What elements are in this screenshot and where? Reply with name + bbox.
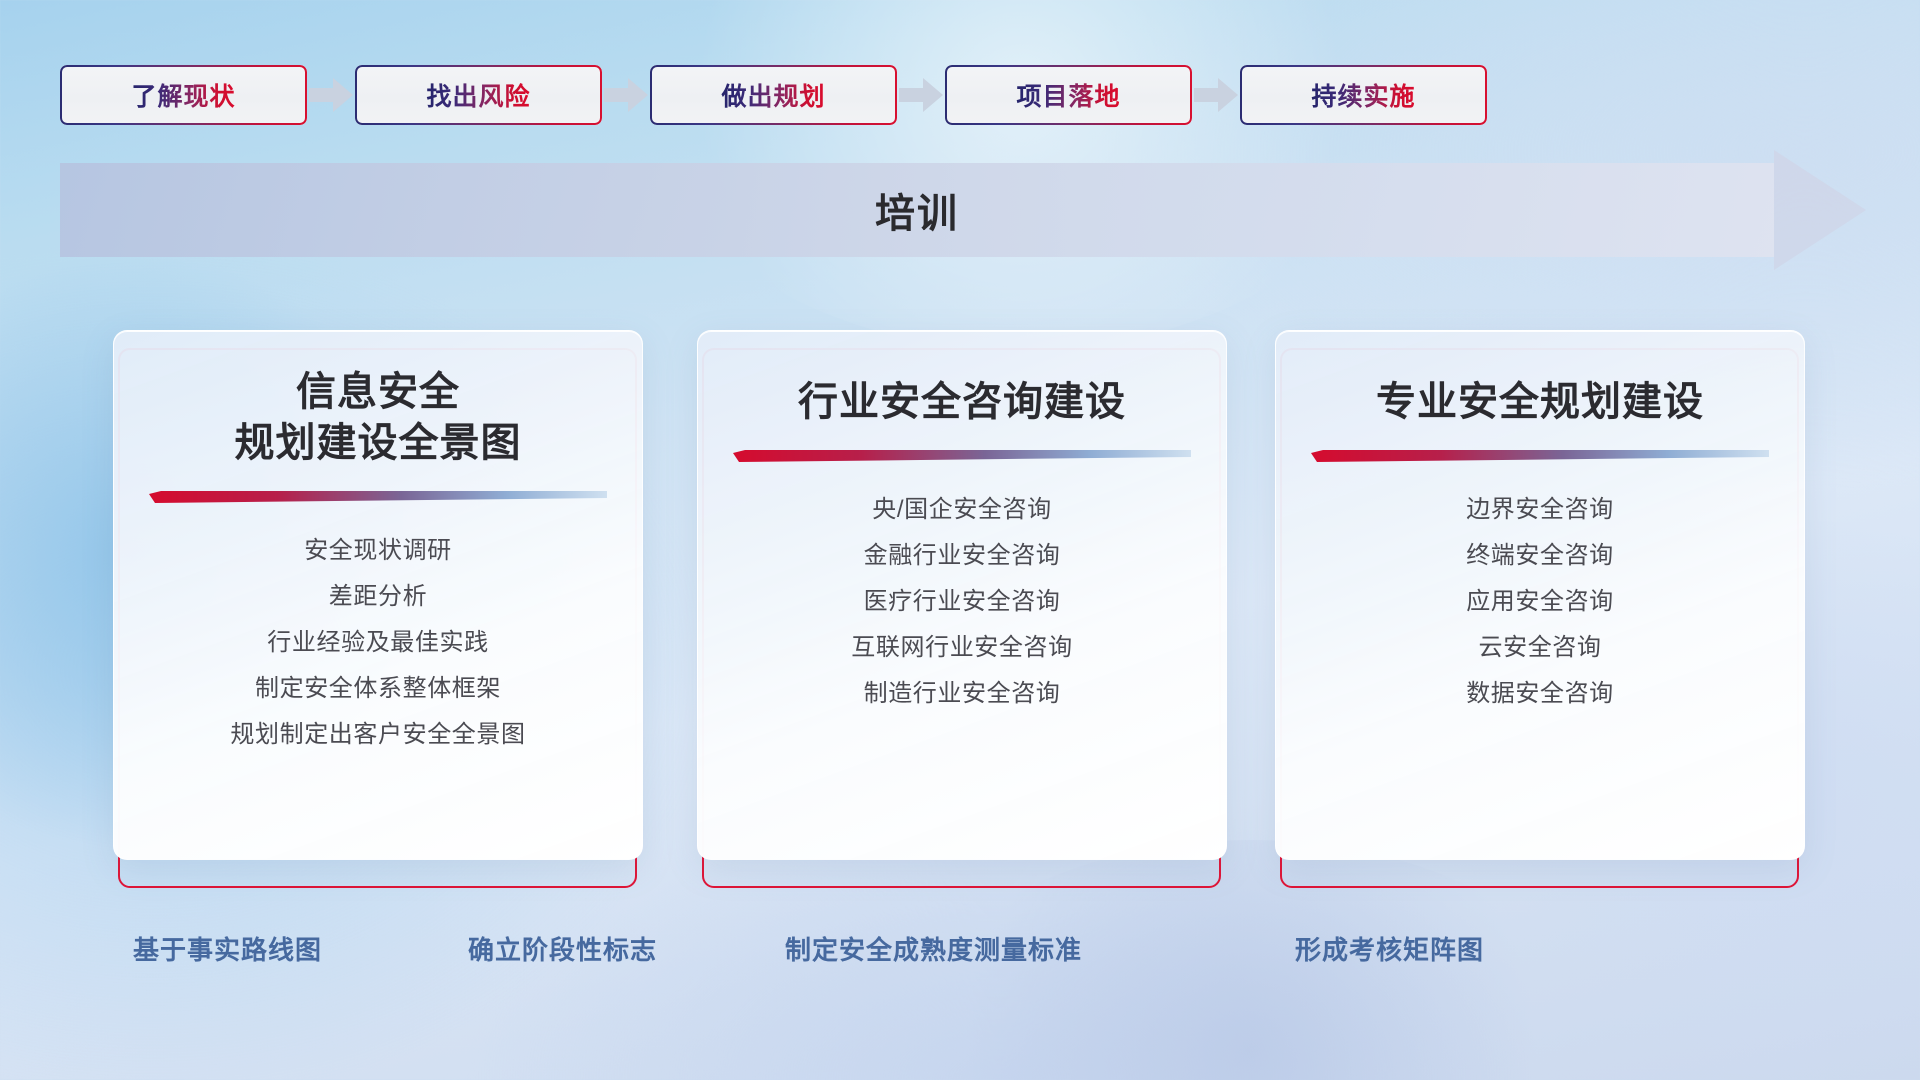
arrow-right-icon [1192, 73, 1240, 117]
card-industry-consulting[interactable]: 行业安全咨询建设 央/国企安全咨询 [697, 330, 1227, 860]
card-item-list: 央/国企安全咨询 金融行业安全咨询 医疗行业安全咨询 互联网行业安全咨询 制造行… [720, 487, 1204, 717]
outcome-label-milestones: 确立阶段性标志 [468, 930, 657, 967]
arrow-right-icon [897, 73, 945, 117]
list-item: 制造行业安全咨询 [864, 671, 1061, 717]
list-item: 数据安全咨询 [1466, 671, 1614, 717]
list-item: 云安全咨询 [1479, 625, 1602, 671]
step-label: 找出风险 [426, 77, 530, 113]
card-title: 信息安全 规划建设全景图 [235, 367, 522, 469]
outcome-label-maturity-standard: 制定安全成熟度测量标准 [785, 930, 1082, 967]
list-item: 互联网行业安全咨询 [851, 625, 1072, 671]
outcome-labels: 基于事实路线图 确立阶段性标志 制定安全成熟度测量标准 形成考核矩阵图 [0, 930, 1920, 990]
outcome-label-assessment-matrix: 形成考核矩阵图 [1295, 930, 1484, 967]
step-box-find-risk[interactable]: 找出风险 [355, 65, 602, 125]
process-step-flow: 了解现状 找出风险 做出规划 项目落地 [60, 64, 1860, 126]
card-item-list: 安全现状调研 差距分析 行业经验及最佳实践 制定安全体系整体框架 规划制定出客户… [136, 528, 620, 758]
step-label: 持续实施 [1311, 77, 1415, 113]
banner-arrow-right-icon [1774, 150, 1866, 270]
card-slot-0: 信息安全 规划建设全景图 安全现状调研 [113, 330, 643, 890]
capability-cards: 信息安全 规划建设全景图 安全现状调研 [0, 330, 1920, 890]
step-label: 了解现状 [131, 77, 235, 113]
banner-title: 培训 [60, 163, 1774, 257]
step-wrap-4: 持续实施 [1240, 65, 1487, 125]
card-title: 专业安全规划建设 [1376, 377, 1704, 428]
card-panorama[interactable]: 信息安全 规划建设全景图 安全现状调研 [113, 330, 643, 860]
step-wrap-1: 找出风险 [355, 65, 650, 125]
list-item: 边界安全咨询 [1466, 487, 1614, 533]
list-item: 医疗行业安全咨询 [864, 579, 1061, 625]
step-wrap-0: 了解现状 [60, 65, 355, 125]
list-item: 金融行业安全咨询 [864, 533, 1061, 579]
list-item: 规划制定出客户安全全景图 [230, 712, 525, 758]
list-item: 行业经验及最佳实践 [267, 620, 488, 666]
arrow-right-icon [602, 73, 650, 117]
step-box-understand-status[interactable]: 了解现状 [60, 65, 307, 125]
card-title: 行业安全咨询建设 [798, 377, 1126, 428]
card-slot-2: 专业安全规划建设 边界安全咨询 [1275, 330, 1805, 890]
outcome-label-roadmap: 基于事实路线图 [133, 930, 322, 967]
step-box-continuous-implementation[interactable]: 持续实施 [1240, 65, 1487, 125]
list-item: 安全现状调研 [304, 528, 452, 574]
step-box-project-landing[interactable]: 项目落地 [945, 65, 1192, 125]
list-item: 制定安全体系整体框架 [255, 666, 501, 712]
arrow-right-icon [307, 73, 355, 117]
step-label: 做出规划 [721, 77, 825, 113]
card-slot-1: 行业安全咨询建设 央/国企安全咨询 [697, 330, 1227, 890]
list-item: 终端安全咨询 [1466, 533, 1614, 579]
training-banner: 培训 [60, 163, 1866, 257]
card-professional-planning[interactable]: 专业安全规划建设 边界安全咨询 [1275, 330, 1805, 860]
gradient-divider-icon [1311, 450, 1769, 463]
step-box-make-plan[interactable]: 做出规划 [650, 65, 897, 125]
step-label: 项目落地 [1016, 77, 1120, 113]
list-item: 应用安全咨询 [1466, 579, 1614, 625]
list-item: 央/国企安全咨询 [872, 487, 1051, 533]
step-wrap-2: 做出规划 [650, 65, 945, 125]
step-wrap-3: 项目落地 [945, 65, 1240, 125]
card-item-list: 边界安全咨询 终端安全咨询 应用安全咨询 云安全咨询 数据安全咨询 [1298, 487, 1782, 717]
gradient-divider-icon [149, 491, 607, 504]
gradient-divider-icon [733, 450, 1191, 463]
list-item: 差距分析 [329, 574, 427, 620]
